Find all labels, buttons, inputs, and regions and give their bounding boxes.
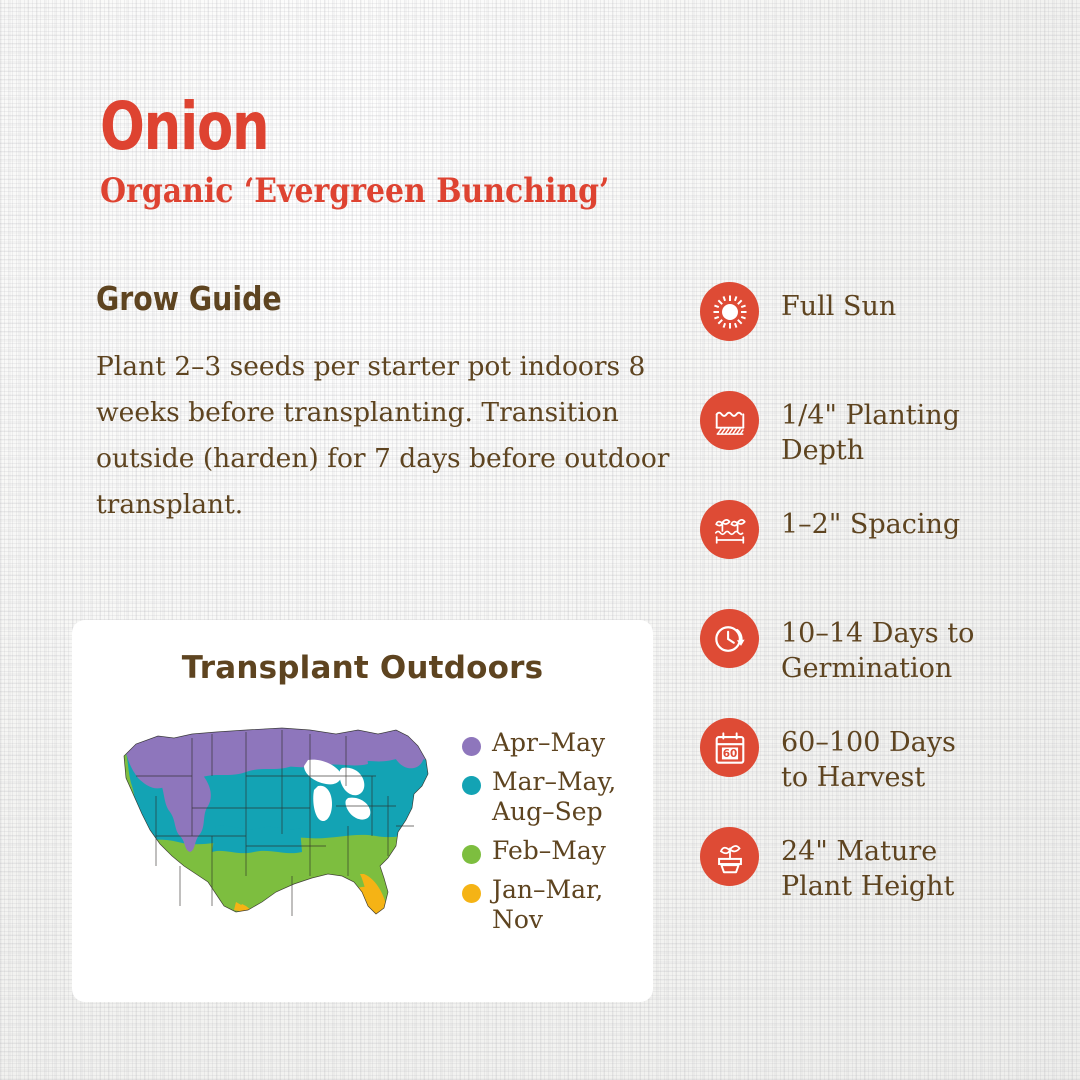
legend-label: Mar–May, Aug–Sep: [492, 767, 616, 827]
sun-icon: [711, 293, 749, 331]
spec-row-germination: 10–14 Days to Germination: [700, 609, 1030, 718]
planting-depth-icon: [711, 402, 749, 440]
spec-badge: 60: [700, 718, 759, 777]
spec-row-plant-height: 24" Mature Plant Height: [700, 827, 1030, 936]
spec-row-planting-depth: 1/4" Planting Depth: [700, 391, 1030, 500]
clock-icon: [711, 620, 749, 658]
spec-label: 1–2" Spacing: [781, 500, 960, 542]
legend-label: Feb–May: [492, 836, 606, 866]
legend-item: Mar–May, Aug–Sep: [462, 767, 616, 827]
spec-badge: [700, 391, 759, 450]
map-card-title: Transplant Outdoors: [72, 650, 653, 686]
legend-dot-icon: [462, 776, 481, 795]
spec-label: 1/4" Planting Depth: [781, 391, 960, 468]
spec-row-full-sun: Full Sun: [700, 282, 1030, 391]
spec-label: 24" Mature Plant Height: [781, 827, 954, 904]
legend-dot-icon: [462, 845, 481, 864]
calendar-day-count: 60: [722, 748, 737, 760]
spec-badge: [700, 609, 759, 668]
spec-label: 60–100 Days to Harvest: [781, 718, 956, 795]
spec-row-spacing: 1–2" Spacing: [700, 500, 1030, 609]
spec-badge: [700, 827, 759, 886]
grow-specs-list: Full Sun: [700, 282, 1030, 936]
seed-packet-panel: Onion Organic ‘Evergreen Bunching’ Grow …: [0, 0, 1080, 1080]
legend-item: Feb–May: [462, 836, 616, 866]
spec-row-harvest: 60 60–100 Days to Harvest: [700, 718, 1030, 827]
legend-dot-icon: [462, 884, 481, 903]
legend-item: Apr–May: [462, 728, 616, 758]
spec-badge: [700, 500, 759, 559]
legend-item: Jan–Mar, Nov: [462, 875, 616, 935]
map-legend: Apr–May Mar–May, Aug–Sep Feb–May Jan–Mar…: [462, 728, 616, 944]
spec-label: Full Sun: [781, 282, 896, 324]
transplant-map-card: Transplant Outdoors: [72, 620, 653, 1002]
legend-label: Jan–Mar, Nov: [492, 875, 603, 935]
grow-guide-heading: Grow Guide: [96, 282, 282, 315]
potted-plant-icon: [711, 838, 749, 876]
spacing-icon: [711, 511, 749, 549]
spec-badge: [700, 282, 759, 341]
legend-dot-icon: [462, 737, 481, 756]
calendar-icon: 60: [711, 729, 749, 767]
legend-label: Apr–May: [492, 728, 605, 758]
usa-transplant-zone-map: [96, 716, 441, 966]
spec-label: 10–14 Days to Germination: [781, 609, 974, 686]
variety-subtitle: Organic ‘Evergreen Bunching’: [100, 172, 609, 211]
grow-guide-text: Plant 2–3 seeds per starter pot indoors …: [96, 344, 686, 528]
page-title: Onion: [100, 94, 268, 160]
